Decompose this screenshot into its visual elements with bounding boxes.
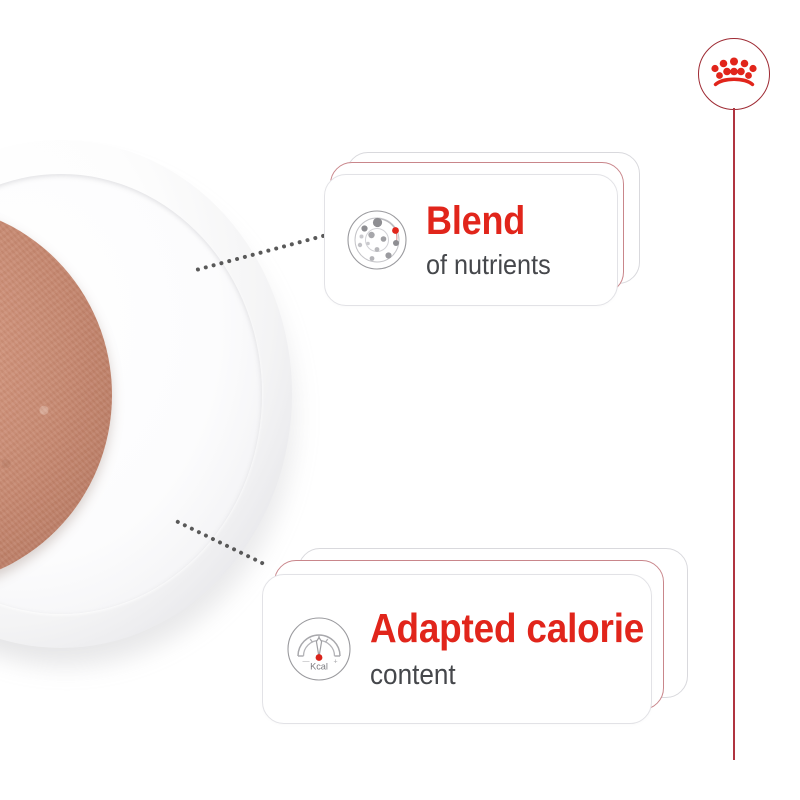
feature-card-blend[interactable]: Blend of nutrients bbox=[324, 152, 644, 308]
svg-text:—: — bbox=[303, 659, 310, 666]
feature-subtitle: content bbox=[370, 660, 644, 690]
feature-card-blend-body: Blend of nutrients bbox=[346, 174, 618, 306]
feature-card-calorie-text: Adapted calorie content bbox=[370, 608, 675, 690]
nutrient-molecule-icon bbox=[346, 209, 408, 271]
feature-card-blend-text: Blend of nutrients bbox=[426, 201, 565, 279]
feature-title: Adapted calorie bbox=[370, 608, 644, 649]
brand-logo bbox=[698, 38, 770, 110]
brand-stem-line bbox=[733, 108, 735, 760]
svg-text:+: + bbox=[334, 659, 338, 666]
feature-card-calorie-body: — + Kcal Adapted calorie content bbox=[286, 574, 652, 724]
kcal-label: Kcal bbox=[310, 662, 328, 672]
food-loaf bbox=[0, 204, 112, 586]
feature-card-calorie[interactable]: — + Kcal Adapted calorie content bbox=[262, 548, 702, 724]
feature-title: Blend bbox=[426, 201, 551, 241]
product-feature-panel: Blend of nutrients — + Kcal bbox=[0, 0, 800, 800]
product-photo bbox=[0, 140, 300, 660]
kcal-gauge-icon: — + Kcal bbox=[286, 616, 352, 682]
crown-icon bbox=[710, 54, 758, 94]
feature-subtitle: of nutrients bbox=[426, 250, 551, 279]
